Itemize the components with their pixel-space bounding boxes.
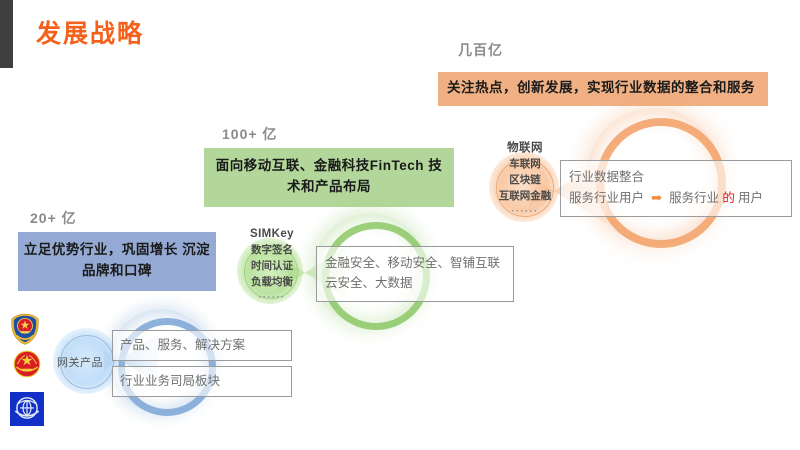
tier-3-detail-line-2-after-b: 用户 xyxy=(738,191,763,205)
tier-1-detail-box-2-text: 行业业务司局板块 xyxy=(120,371,284,391)
tier-3-keyword-ellipsis: ······ xyxy=(486,205,564,219)
tier-3-detail-box: 行业数据整合 服务行业用户 ➡ 服务行业 的 用户 xyxy=(560,160,792,217)
tier-3-detail-line-1: 行业数据整合 xyxy=(569,167,783,187)
police-emblem-icon xyxy=(8,312,42,346)
tier-2-banner: 面向移动互联、金融科技FinTech 技术和产品布局 xyxy=(204,148,454,207)
tier-1-caption: 20+ 亿 xyxy=(30,208,77,228)
national-emblem-icon xyxy=(10,348,44,382)
tier-2-keyword-head: SIMKey xyxy=(236,226,308,243)
tier-2-detail-box: 金融安全、移动安全、智铺互联 云安全、大数据 xyxy=(316,246,514,302)
tier-2-keyword-item-1: 数字签名 xyxy=(236,243,308,259)
tier-2-caption: 100+ 亿 xyxy=(222,124,277,144)
tier-1-banner-line-1: 立足优势行业，巩固增长 xyxy=(24,242,178,257)
tier-2-keyword-item-3: 负载均衡 xyxy=(236,275,308,291)
tier-3-detail-line-2-before: 服务行业用户 xyxy=(569,191,644,205)
right-arrow-icon: ➡ xyxy=(647,190,666,205)
page-title: 发展战略 xyxy=(36,14,144,50)
tier-3-detail-line-2: 服务行业用户 ➡ 服务行业 的 用户 xyxy=(569,187,783,208)
tier-2-detail-line-2: 云安全、大数据 xyxy=(325,273,505,293)
tier-2-keyword-ellipsis: ······ xyxy=(236,291,308,305)
tier-3-keyword-stack: 物联网 车联网 区块链 互联网金融 ······ xyxy=(486,140,564,220)
slide-canvas: 发展战略 几百亿 关注热点，创新发展，实现行业数据的整合和服务 物联网 车联网 … xyxy=(0,0,800,450)
customs-emblem-icon xyxy=(10,392,44,426)
tier-1-detail-box-2: 行业业务司局板块 xyxy=(112,366,292,397)
tier-3-keyword-head: 物联网 xyxy=(486,140,564,157)
tier-1-detail-box-1-text: 产品、服务、解决方案 xyxy=(120,335,284,355)
corner-accent-block xyxy=(0,0,13,68)
tier-1-banner: 立足优势行业，巩固增长 沉淀品牌和口碑 xyxy=(18,232,216,291)
tier-3-banner: 关注热点，创新发展，实现行业数据的整合和服务 xyxy=(438,72,768,106)
tier-3-banner-line-1: 关注热点，创新发展，实现行业数据的整合和服务 xyxy=(447,80,755,95)
tier-3-detail-highlight: 的 xyxy=(722,191,735,205)
tier-2-keyword-stack: SIMKey 数字签名 时间认证 负载均衡 ······ xyxy=(236,226,308,306)
tier-1-hub-label: 网关产品 xyxy=(57,354,103,370)
tier-2-banner-line-1: 面向移动互联、金融科技FinTech xyxy=(216,158,424,173)
tier-3-keyword-item-1: 车联网 xyxy=(486,157,564,173)
tier-3-keyword-item-3: 互联网金融 xyxy=(486,189,564,205)
tier-1-detail-box-1: 产品、服务、解决方案 xyxy=(112,330,292,361)
tier-3-detail-line-2-after-a: 服务行业 xyxy=(669,191,719,205)
tier-2-detail-line-1: 金融安全、移动安全、智铺互联 xyxy=(325,253,505,273)
tier-3-caption: 几百亿 xyxy=(458,40,503,60)
tier-3-keyword-item-2: 区块链 xyxy=(486,173,564,189)
tier-2-keyword-item-2: 时间认证 xyxy=(236,259,308,275)
